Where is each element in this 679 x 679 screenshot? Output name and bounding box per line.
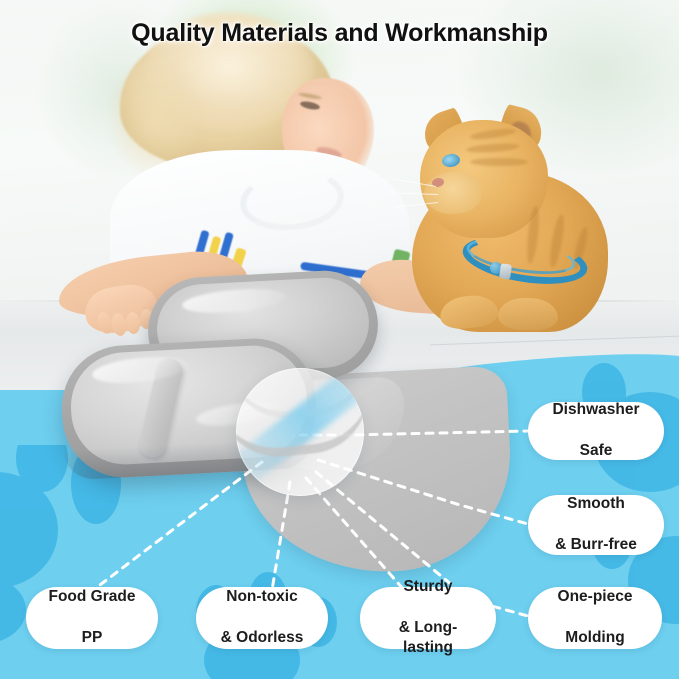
feature-line-1: One-piece bbox=[550, 587, 641, 607]
feature-line-1: Non-toxic bbox=[213, 587, 312, 607]
infographic-canvas: Dishwasher Safe Smooth & Burr-free One-p… bbox=[0, 0, 679, 679]
feature-line-1: Dishwasher bbox=[544, 400, 647, 420]
magnifier-bowl-edge bbox=[236, 368, 364, 463]
feature-line-2: & Odorless bbox=[213, 628, 312, 648]
feature-line-1: Sturdy bbox=[368, 577, 488, 597]
feature-line-2: & Burr-free bbox=[547, 535, 645, 555]
feature-pill-non-toxic-odorless[interactable]: Non-toxic & Odorless bbox=[196, 587, 328, 649]
magnifier-lens-icon bbox=[236, 368, 364, 496]
feature-line-2: PP bbox=[41, 628, 144, 648]
feature-line-2: & Long-lasting bbox=[368, 618, 488, 659]
feature-pill-smooth-burr-free[interactable]: Smooth & Burr-free bbox=[528, 495, 664, 555]
feature-line-2: Safe bbox=[544, 441, 647, 461]
page-title: Quality Materials and Workmanship bbox=[0, 19, 679, 48]
feature-pill-sturdy-long-lasting[interactable]: Sturdy & Long-lasting bbox=[360, 587, 496, 649]
feature-line-1: Food Grade bbox=[41, 587, 144, 607]
feature-line-1: Smooth bbox=[547, 494, 645, 514]
feature-line-2: Molding bbox=[550, 628, 641, 648]
feature-pill-food-grade-pp[interactable]: Food Grade PP bbox=[26, 587, 158, 649]
feature-pill-one-piece-molding[interactable]: One-piece Molding bbox=[528, 587, 662, 649]
feature-pill-dishwasher-safe[interactable]: Dishwasher Safe bbox=[528, 402, 664, 460]
